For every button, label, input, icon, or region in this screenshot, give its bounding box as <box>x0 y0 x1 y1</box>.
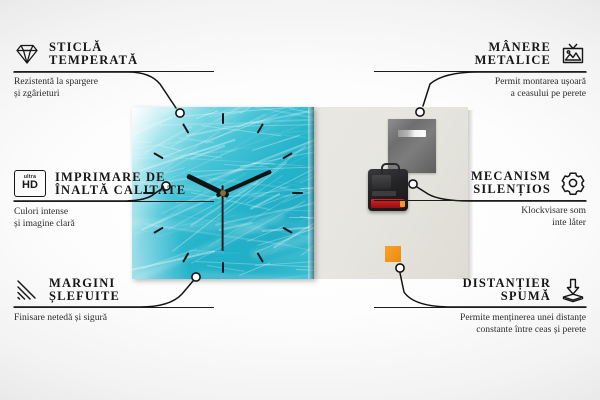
clock-center-cap <box>220 190 226 196</box>
clock-tick <box>282 227 293 234</box>
feature-rule <box>374 307 586 308</box>
feature-subtitle-line1: Rezistentă la spargere <box>14 76 214 88</box>
clock-polished-edge <box>308 107 314 279</box>
feature-subtitle-line1: Culori intense <box>14 206 214 218</box>
feature-title-line2: ȘLEFUITE <box>49 290 120 303</box>
clock-tick <box>153 152 164 159</box>
feature-rule <box>14 307 214 308</box>
feature-title-line2: ÎNALTĂ CALITATE <box>55 184 186 197</box>
clock-tick <box>257 252 264 263</box>
gear-icon <box>560 170 586 196</box>
clock-tick <box>222 113 224 124</box>
clock-tick <box>282 152 293 159</box>
foam-spacer <box>385 246 401 262</box>
feature-subtitle-line2: constante între ceas și perete <box>374 324 586 336</box>
feature-rule <box>14 201 214 202</box>
feature-rule <box>374 200 586 201</box>
clock-tick <box>292 192 303 194</box>
feature-subtitle-line2: și zgârieturi <box>14 88 214 100</box>
feature-title-line1: IMPRIMARE DE <box>55 171 186 184</box>
feature-subtitle-line2: și imagine clară <box>14 218 214 230</box>
clock-tick <box>222 262 224 273</box>
feature-rule <box>14 71 214 72</box>
feature-subtitle-line1: Permit montarea ușoară <box>374 76 586 88</box>
feature-foam-spacer: DISTANȚIER SPUMĂ Permite menținerea unei… <box>374 277 586 336</box>
clock-tick <box>182 252 189 263</box>
feature-title-line2: SPUMĂ <box>501 290 551 303</box>
feature-subtitle-line2: inte låter <box>374 217 586 229</box>
infographic-canvas: STICLĂ TEMPERATĂ Rezistentă la spargere … <box>0 0 600 400</box>
hanger-slot <box>398 130 426 137</box>
feature-subtitle-line1: Klockvisare som <box>374 205 586 217</box>
feature-polished-edges: MARGINI ȘLEFUITE Finisare netedă și sigu… <box>14 277 214 324</box>
feature-rule <box>374 71 586 72</box>
feature-title-line2: SILENȚIOS <box>473 183 551 196</box>
feature-subtitle-line1: Permite menținerea unei distanțe <box>374 312 586 324</box>
feature-subtitle-line1: Finisare netedă și sigură <box>14 312 214 324</box>
picture-frame-hanger-icon <box>560 41 586 67</box>
feature-high-quality-print: ultra HD IMPRIMARE DE ÎNALTĂ CALITATE Cu… <box>14 170 214 230</box>
down-arrow-pad-icon <box>560 277 586 303</box>
feature-metal-handles: MÂNERE METALICE Permit montarea ușoară a… <box>374 41 586 100</box>
clock-tick <box>257 123 264 134</box>
clock-tick <box>182 123 189 134</box>
ultra-hd-badge-large: HD <box>22 180 38 192</box>
feature-title-line2: METALICE <box>475 54 551 67</box>
feature-silent-mechanism: MECANISM SILENȚIOS Klockvisare som inte … <box>374 170 586 229</box>
feature-tempered-glass: STICLĂ TEMPERATĂ Rezistentă la spargere … <box>14 41 214 100</box>
feature-title-line2: TEMPERATĂ <box>49 54 138 67</box>
ultra-hd-icon: ultra HD <box>14 170 46 197</box>
diamond-icon <box>14 41 40 67</box>
polished-edge-lines-icon <box>14 277 40 303</box>
feature-subtitle-line2: a ceasului pe perete <box>374 88 586 100</box>
